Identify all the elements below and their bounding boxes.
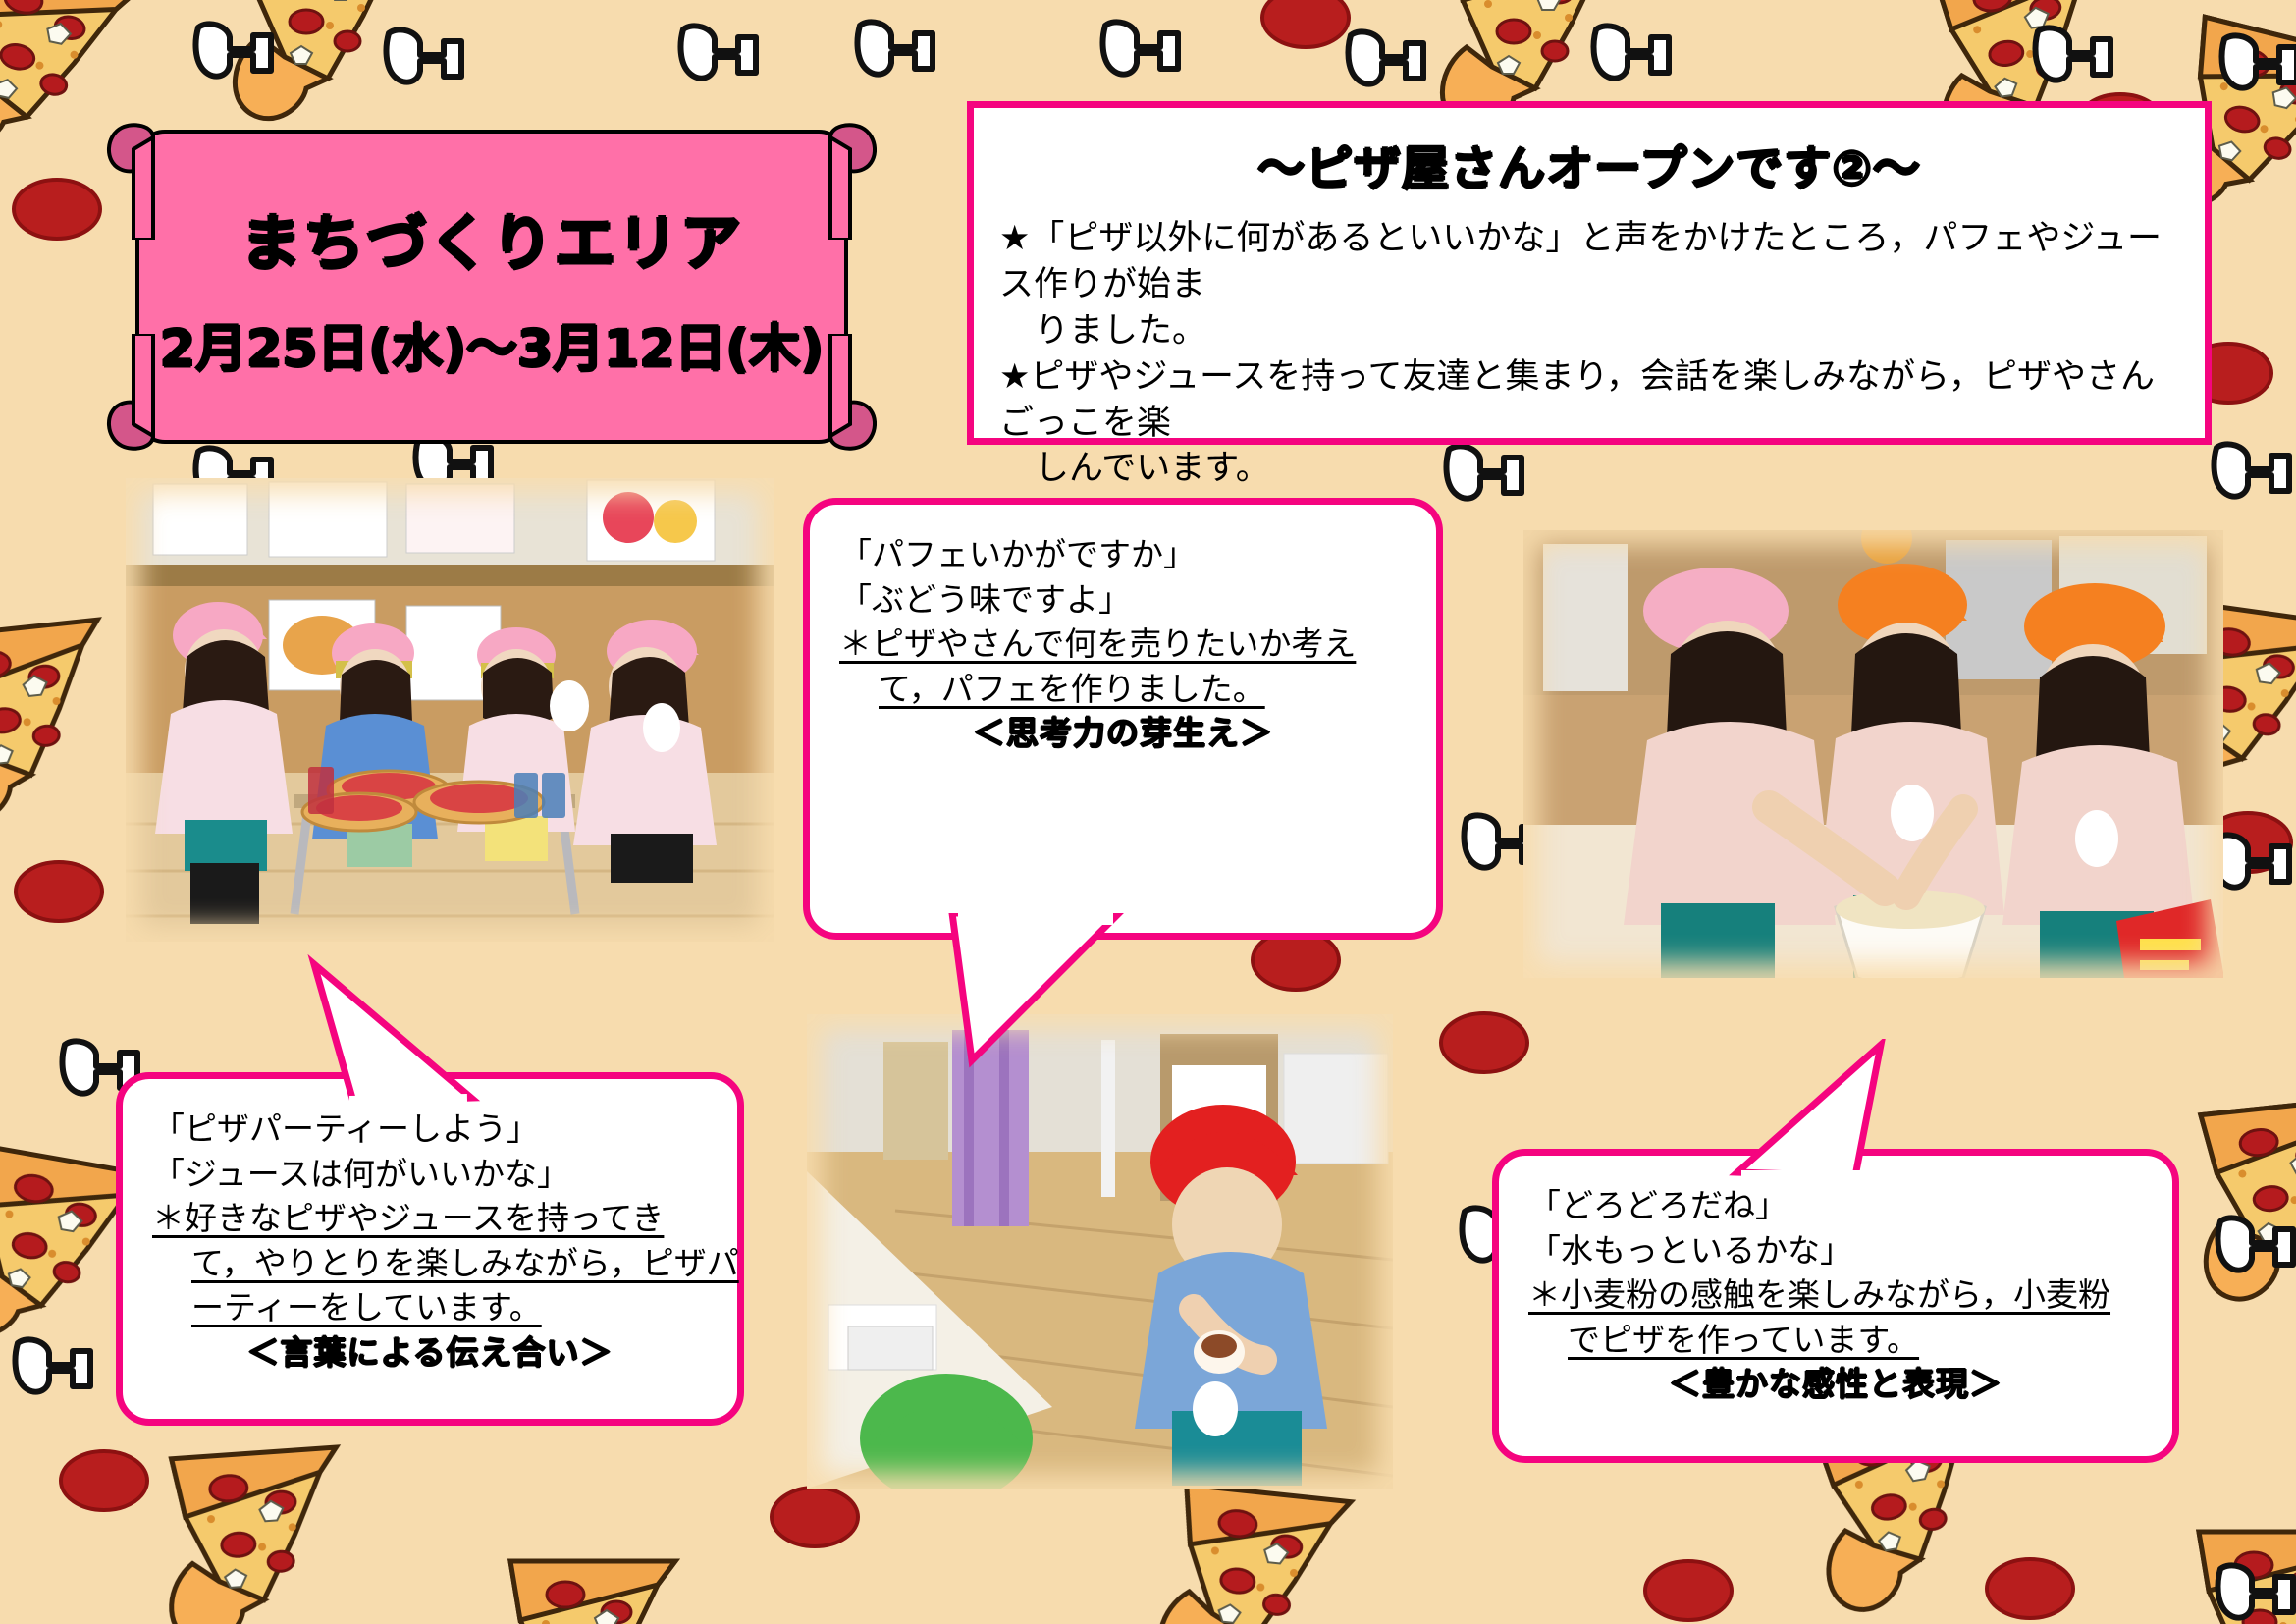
bullet-text-2a: ピザやジュースを持って友達と集まり，会話を楽しみながら，ピザやさんごっこを楽 xyxy=(999,357,2155,443)
bubble-right-quote-2: 「水もっといるかな」 xyxy=(1528,1228,2143,1273)
bubble-left-quote-1: 「ピザパーティーしよう」 xyxy=(152,1107,708,1152)
bubble-center-tail xyxy=(933,913,1158,1070)
header-announcement-box: 〜ピザ屋さんオープンです②〜 ★「ピザ以外に何があるといいかな」と声をかけたとこ… xyxy=(967,101,2212,445)
bubble-right-quote-1: 「どろどろだね」 xyxy=(1528,1183,2143,1228)
bubble-left-note-1: ＊好きなピザやジュースを持ってき xyxy=(152,1196,708,1241)
speech-bubble-flour: 「どろどろだね」 「水もっといるかな」 ＊小麦粉の感触を楽しみながら，小麦粉 で… xyxy=(1492,1149,2179,1463)
bubble-right-note-1: ＊小麦粉の感触を楽しみながら，小麦粉 xyxy=(1528,1272,2143,1318)
photo-edge-fade xyxy=(126,478,774,942)
header-bullet-2: ★ピザやジュースを持って友達と集まり，会話を楽しみながら，ピザやさんごっこを楽 … xyxy=(999,354,2179,493)
speech-bubble-pizza-party: 「ピザパーティーしよう」 「ジュースは何がいいかな」 ＊好きなピザやジュースを持… xyxy=(116,1072,744,1426)
bullet-marker-2: ★ xyxy=(999,357,1030,397)
bubble-left-note-3: ーティーをしています。 xyxy=(152,1285,708,1330)
banner-date-range: 2月25日(水)〜3月12日(木) xyxy=(160,307,824,381)
bubble-left-tail xyxy=(294,954,491,1111)
bullet-text-2b: しんでいます。 xyxy=(999,446,2179,492)
header-bullet-1: ★「ピザ以外に何があるといいかな」と声をかけたところ，パフェやジュース作りが始ま… xyxy=(999,216,2179,354)
bubble-left-keyword: ＜言葉による伝え合い＞ xyxy=(152,1330,708,1376)
bullet-text-1a: 「ピザ以外に何があるといいかな」と声をかけたところ，パフェやジュース作りが始ま xyxy=(999,219,2162,304)
bubble-center-quote-2: 「ぶどう味ですよ」 xyxy=(839,577,1407,623)
bubble-right-keyword: ＜豊かな感性と表現＞ xyxy=(1528,1362,2143,1407)
bubble-center-note-2: て，パフェを作りました。 xyxy=(839,667,1407,712)
bubble-left-quote-2: 「ジュースは何がいいかな」 xyxy=(152,1152,708,1197)
bullet-marker-1: ★ xyxy=(999,219,1030,258)
bubble-center-quote-1: 「パフェいかがですか」 xyxy=(839,532,1407,577)
speech-bubble-parfait: 「パフェいかがですか」 「ぶどう味ですよ」 ＊ピザやさんで何を売りたいか考え て… xyxy=(803,498,1443,940)
bubble-right-note-2: でピザを作っています。 xyxy=(1528,1318,2143,1363)
photo-kneading-flour xyxy=(1523,530,2223,978)
banner-title: まちづくりエリア xyxy=(240,193,743,282)
bubble-left-note-2: て，やりとりを楽しみながら，ピザパ xyxy=(152,1241,708,1286)
bubble-center-note-1: ＊ピザやさんで何を売りたいか考え xyxy=(839,622,1407,667)
header-title: 〜ピザ屋さんオープンです②〜 xyxy=(999,130,2179,198)
photo-edge-fade xyxy=(807,1014,1393,1489)
title-scroll-banner: まちづくりエリア 2月25日(水)〜3月12日(木) xyxy=(98,130,885,444)
bubble-right-tail xyxy=(1708,1039,1904,1186)
photo-edge-fade xyxy=(1523,530,2223,978)
photo-pizza-party xyxy=(126,478,774,942)
photo-parfait-child xyxy=(807,1014,1393,1489)
bubble-center-keyword: ＜思考力の芽生え＞ xyxy=(839,711,1407,756)
bullet-text-1b: りました。 xyxy=(999,308,2179,354)
